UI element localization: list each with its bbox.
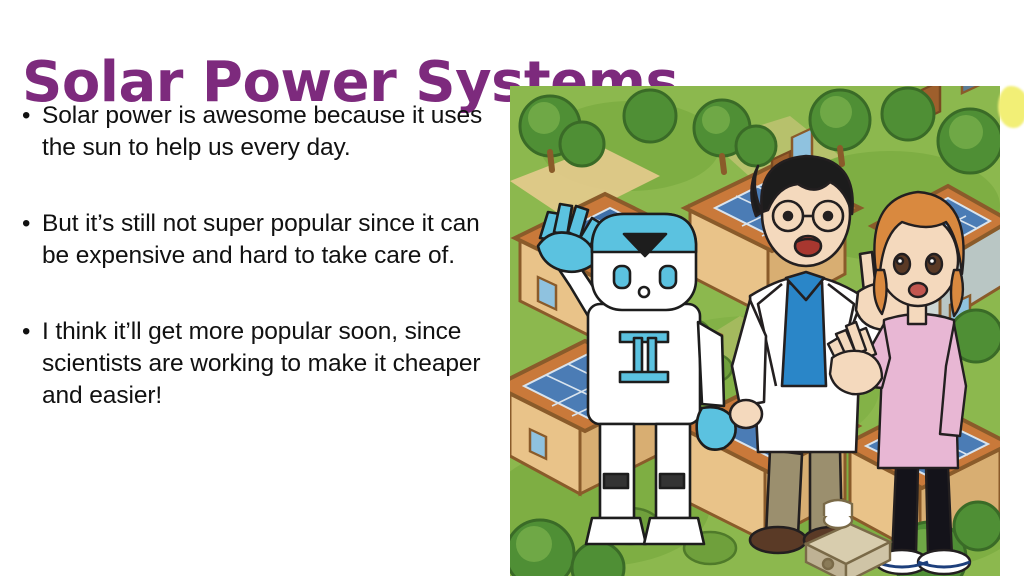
bullet-list: • Solar power is awesome because it uses… — [18, 100, 498, 412]
list-item: • I think it’ll get more popular soon, s… — [18, 316, 498, 412]
bullet-text: I think it’ll get more popular soon, sin… — [42, 316, 498, 412]
bullet-marker-icon: • — [18, 316, 42, 348]
list-item: • But it’s still not super popular since… — [18, 208, 498, 272]
slide-canvas: Solar Power Systems • Solar power is awe… — [0, 0, 1024, 576]
list-item: • Solar power is awesome because it uses… — [18, 100, 498, 164]
solar-neighborhood-illustration — [510, 86, 1000, 576]
bullet-text: Solar power is awesome because it uses t… — [42, 100, 498, 164]
bullet-text: But it’s still not super popular since i… — [42, 208, 498, 272]
bullet-marker-icon: • — [18, 100, 42, 132]
yellow-accent-blob — [998, 86, 1024, 128]
bullet-marker-icon: • — [18, 208, 42, 240]
